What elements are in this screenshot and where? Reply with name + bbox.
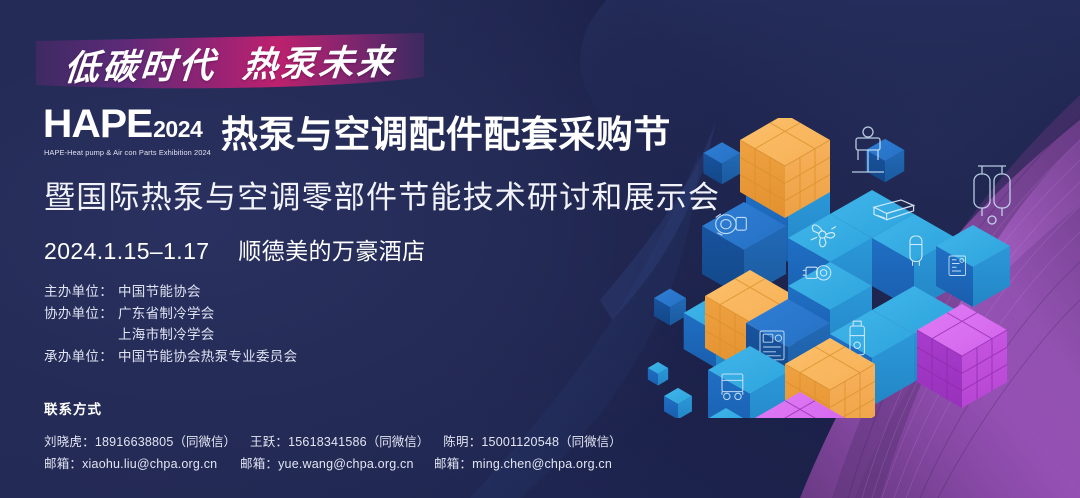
pump-stand-outline-icon bbox=[852, 127, 884, 172]
cube-water-heater bbox=[830, 310, 914, 406]
hape-english-subtitle: HAPE-Heat pump & Air con Parts Exhibitio… bbox=[44, 148, 211, 157]
contact-person-1-wechat: （同微信） bbox=[173, 435, 236, 449]
email-label: 邮箱： bbox=[434, 457, 472, 471]
contact-person-2-phone: 王跃：15618341586（同微信） bbox=[250, 431, 429, 453]
event-venue: 顺德美的万豪酒店 bbox=[238, 238, 425, 264]
event-date-venue: 2024.1.15–1.17 顺德美的万豪酒店 bbox=[44, 232, 425, 266]
organiser-value: 中国节能协会热泵专业委员会 bbox=[118, 346, 297, 368]
contact-person-2-email-value[interactable]: yue.wang@chpa.org.cn bbox=[278, 457, 414, 471]
email-label: 邮箱： bbox=[240, 457, 278, 471]
organiser-row: 主办单位： 中国节能协会 bbox=[44, 281, 297, 303]
contact-person-2-email: 邮箱：yue.wang@chpa.org.cn bbox=[240, 453, 434, 475]
cube-heat-exchanger bbox=[746, 166, 830, 262]
event-date: 2024.1.15–1.17 bbox=[44, 238, 209, 264]
contact-phone-row: 刘晓虎：18916638805（同微信） 王跃：15618341586（同微信）… bbox=[44, 431, 636, 453]
rubik-cube-orange-left bbox=[705, 270, 795, 374]
contact-person-3-phone: 陈明：15001120548（同微信） bbox=[443, 431, 621, 453]
contact-person-3-wechat: （同微信） bbox=[559, 435, 622, 449]
hape-wordmark: HAPE bbox=[43, 104, 152, 144]
contact-person-2-name: 王跃： bbox=[250, 435, 288, 449]
promo-poster: 低碳时代 热泵未来 HAPE 2024 HAPE-Heat pump & Air… bbox=[0, 0, 1080, 498]
organiser-label: 承办单位： bbox=[44, 346, 118, 368]
title-row: HAPE 2024 HAPE-Heat pump & Air con Parts… bbox=[44, 104, 724, 157]
cube-valve-stand bbox=[788, 142, 872, 190]
slogan-ribbon: 低碳时代 热泵未来 bbox=[36, 33, 424, 91]
contact-person-2-wechat: （同微信） bbox=[367, 435, 430, 449]
cube-ac-indoor-unit bbox=[830, 190, 914, 286]
rubik-cube-purple-right bbox=[917, 304, 1007, 408]
organiser-label: 主办单位： bbox=[44, 281, 118, 303]
cube-control-board-small bbox=[936, 225, 1010, 307]
organiser-value: 中国节能协会 bbox=[118, 281, 201, 303]
contact-person-3-number: 15001120548 bbox=[481, 435, 559, 449]
headline-block: HAPE 2024 HAPE-Heat pump & Air con Parts… bbox=[44, 104, 724, 217]
contact-email-row: 邮箱：xiaohu.liu@chpa.org.cn 邮箱：yue.wang@ch… bbox=[44, 453, 636, 475]
cube-plain-right bbox=[872, 286, 956, 382]
cube-motor bbox=[788, 262, 872, 358]
contact-person-1-number: 18916638805 bbox=[95, 435, 174, 449]
organiser-value: 上海市制冷学会 bbox=[118, 324, 215, 346]
contact-person-3-email-value[interactable]: ming.chen@chpa.org.cn bbox=[472, 457, 612, 471]
page-subtitle: 暨国际热泵与空调零部件节能技术研讨和展示会 bbox=[44, 172, 724, 217]
organiser-row: 协办单位： 广东省制冷学会 bbox=[44, 303, 297, 325]
cube-trolley bbox=[708, 346, 792, 418]
rubik-cube-purple-bottom bbox=[755, 392, 845, 418]
page-title: 热泵与空调配件配套采购节 bbox=[221, 116, 671, 153]
contact-person-3-name: 陈明： bbox=[443, 435, 481, 449]
hape-logo-main: HAPE 2024 bbox=[44, 104, 211, 144]
cube-accumulator bbox=[872, 214, 956, 310]
cube-water-tank-outline bbox=[974, 166, 1010, 224]
contact-heading: 联系方式 bbox=[44, 398, 636, 418]
rubik-cube-orange-bottom bbox=[785, 338, 875, 418]
slogan-part-2: 热泵未来 bbox=[241, 33, 398, 87]
organiser-row: 协办单位： 上海市制冷学会 bbox=[44, 324, 297, 346]
cube-fan-blade bbox=[788, 214, 872, 310]
contact-person-2-number: 15618341586 bbox=[288, 435, 367, 449]
rubik-cube-orange-top bbox=[740, 118, 830, 218]
organiser-list: 主办单位： 中国节能协会 协办单位： 广东省制冷学会 协办单位： 上海市制冷学会… bbox=[44, 281, 297, 367]
organiser-label: 协办单位： bbox=[44, 303, 118, 325]
slogan-part-1: 低碳时代 bbox=[62, 37, 219, 91]
contact-person-1-email: 邮箱：xiaohu.liu@chpa.org.cn bbox=[44, 453, 240, 475]
organiser-row: 承办单位： 中国节能协会热泵专业委员会 bbox=[44, 346, 297, 368]
hape-logo: HAPE 2024 HAPE-Heat pump & Air con Parts… bbox=[44, 104, 211, 157]
floating-cube-bottom bbox=[709, 408, 743, 418]
cube-control-panel bbox=[746, 299, 830, 395]
contact-person-1-email-value[interactable]: xiaohu.liu@chpa.org.cn bbox=[82, 457, 217, 471]
contact-person-1-phone: 刘晓虎：18916638805（同微信） bbox=[44, 431, 236, 453]
contact-person-3-email: 邮箱：ming.chen@chpa.org.cn bbox=[434, 453, 612, 475]
email-label: 邮箱： bbox=[44, 457, 82, 471]
contact-block: 联系方式 刘晓虎：18916638805（同微信） 王跃：15618341586… bbox=[44, 398, 636, 475]
hape-year: 2024 bbox=[153, 118, 202, 141]
contact-person-1-name: 刘晓虎： bbox=[44, 435, 95, 449]
slogan-text: 低碳时代 热泵未来 bbox=[33, 29, 427, 94]
organiser-value: 广东省制冷学会 bbox=[118, 303, 215, 325]
